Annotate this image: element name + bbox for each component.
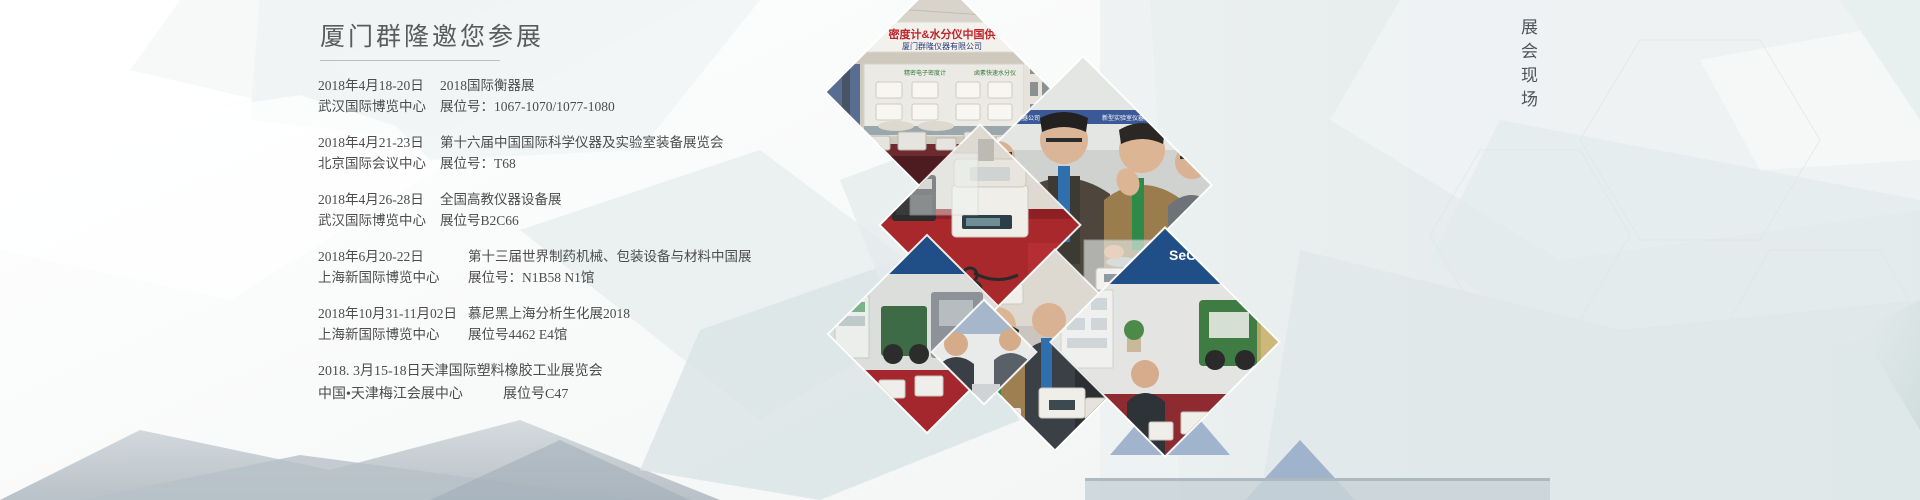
svg-text:精密电子密度计: 精密电子密度计 <box>904 69 946 77</box>
event-venue: 北京国际会议中心 <box>318 153 440 174</box>
section-label-exhibition-scene: 展会现场 <box>1506 18 1540 114</box>
event-date: 2018年10月31-11月02日 <box>318 303 468 324</box>
photo-collage: 密度计&水分仪中国供 厦门群隆仪器有限公司 精密电子密度计 卤素快速水分仪 <box>830 0 1250 500</box>
exhibition-banner: 厦门群隆邀您参展 2018年4月18-20日 2018国际衡器展 武汉国际博览中… <box>0 0 1920 500</box>
svg-text:卤素快速水分仪: 卤素快速水分仪 <box>974 69 1016 77</box>
event-booth: 展位号：1067-1070/1077-1080 <box>440 96 615 117</box>
svg-text:电公通机械: 电公通机械 <box>853 250 898 261</box>
event-venue: 武汉国际博览中心 <box>318 96 440 117</box>
event-date: 2018年6月20-22日 <box>318 246 468 267</box>
event-venue: 上海新国际博览中心 <box>318 267 468 288</box>
event-booth: 展位号4462 E4馆 <box>468 324 567 345</box>
event-name: 第十三届世界制药机械、包装设备与材料中国展 <box>468 246 752 267</box>
event-venue: 中国•天津梅江会展中心 <box>318 383 503 406</box>
event-venue: 武汉国际博览中心 <box>318 210 440 231</box>
event-name: 慕尼黑上海分析生化展2018 <box>468 303 630 324</box>
event-booth: 展位号B2C66 <box>440 210 519 231</box>
event-date: 2018. 3月15-18日天津国际塑料橡胶工业展览会 <box>318 360 603 383</box>
event-date: 2018年4月26-28日 <box>318 189 440 210</box>
event-booth: 展位号C47 <box>503 383 568 406</box>
event-name: 2018国际衡器展 <box>440 75 535 96</box>
event-name: 第十六届中国国际科学仪器及实验室装备展览会 <box>440 132 724 153</box>
event-venue: 上海新国际博览中心 <box>318 324 468 345</box>
event-name: 全国高教仪器设备展 <box>440 189 562 210</box>
event-date: 2018年4月18-20日 <box>318 75 440 96</box>
title-divider <box>320 60 500 61</box>
svg-text:密度计&水分仪中国供: 密度计&水分仪中国供 <box>889 27 996 41</box>
event-date: 2018年4月21-23日 <box>318 132 440 153</box>
svg-text:新型实验室仪器展示中心: 新型实验室仪器展示中心 <box>1102 114 1168 122</box>
svg-text:厦门群隆仪器有限公司: 厦门群隆仪器有限公司 <box>902 41 982 51</box>
event-booth: 展位号：N1B58 N1馆 <box>468 267 594 288</box>
svg-text:SeCAT: SeCAT <box>1169 247 1214 263</box>
event-booth: 展位号：T68 <box>440 153 516 174</box>
